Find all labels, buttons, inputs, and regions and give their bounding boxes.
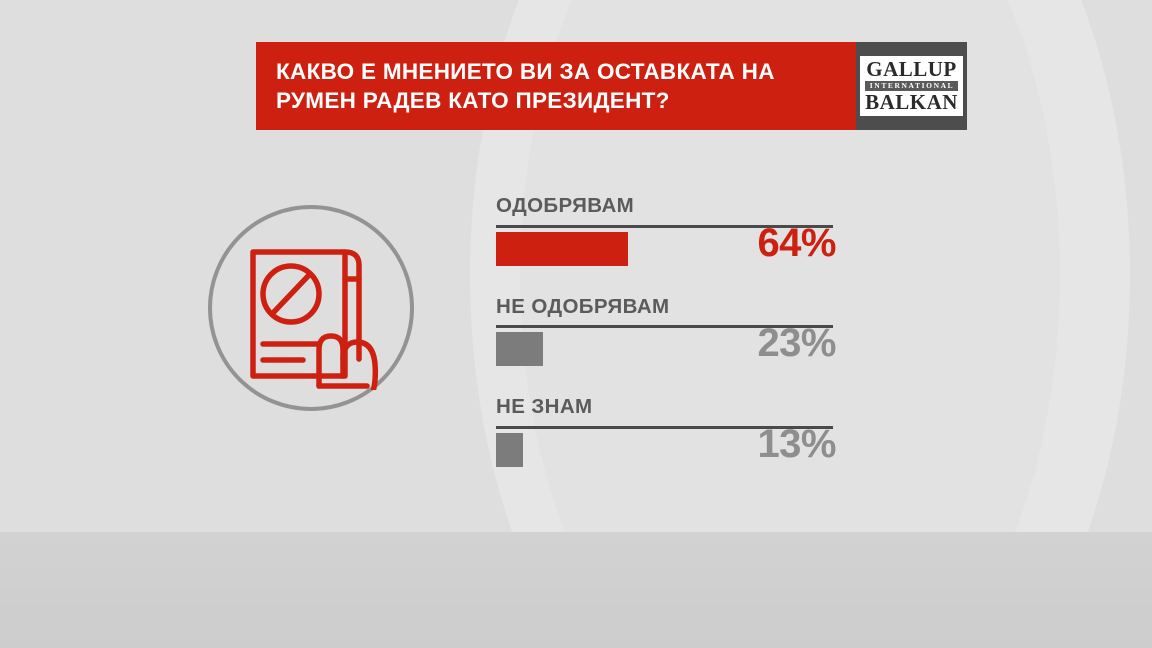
logo-text-gallup: GALLUP (866, 59, 957, 80)
infographic-slide: КАКВО Е МНЕНИЕТО ВИ ЗА ОСТАВКАТА НА РУМЕ… (0, 0, 1152, 648)
chart-bar (496, 433, 523, 467)
chart-value-label: 64% (757, 223, 836, 263)
resignation-document-hand-icon (245, 238, 381, 390)
chart-row-body: 64% (496, 228, 836, 270)
chart-row-disapprove: НЕ ОДОБРЯВАМ 23% (496, 297, 836, 371)
chart-row-label: ОДОБРЯВАМ (496, 196, 836, 217)
header-logo-panel: GALLUP INTERNATIONAL BALKAN (856, 42, 967, 130)
page-title: КАКВО Е МНЕНИЕТО ВИ ЗА ОСТАВКАТА НА РУМЕ… (276, 57, 775, 115)
chart-row-label: НЕ ЗНАМ (496, 397, 836, 418)
logo-text-balkan: BALKAN (865, 92, 958, 113)
chart-row-approve: ОДОБРЯВАМ 64% (496, 196, 836, 270)
chart-bar (496, 232, 628, 266)
chart-row-label: НЕ ОДОБРЯВАМ (496, 297, 836, 318)
chart-value-label: 13% (757, 424, 836, 464)
poll-results-chart: ОДОБРЯВАМ 64% НЕ ОДОБРЯВАМ 23% НЕ ЗНАМ 1… (496, 196, 836, 471)
chart-row-body: 13% (496, 429, 836, 471)
chart-value-label: 23% (757, 323, 836, 363)
header-title-panel: КАКВО Е МНЕНИЕТО ВИ ЗА ОСТАВКАТА НА РУМЕ… (256, 42, 856, 130)
chart-row-dont-know: НЕ ЗНАМ 13% (496, 397, 836, 471)
background-floor-band (0, 532, 1152, 648)
chart-bar (496, 332, 543, 366)
header-bar: КАКВО Е МНЕНИЕТО ВИ ЗА ОСТАВКАТА НА РУМЕ… (256, 42, 967, 130)
gallup-international-balkan-logo: GALLUP INTERNATIONAL BALKAN (860, 56, 963, 116)
chart-row-body: 23% (496, 328, 836, 370)
